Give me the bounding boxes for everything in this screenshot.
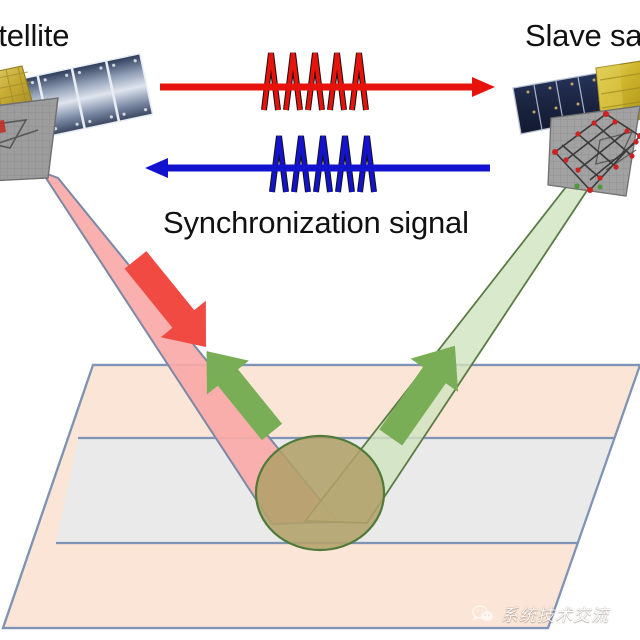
figure-canvas: satellite Slave sat Synchronization sign… [0, 0, 640, 640]
watermark-text: 系统技术交流 [501, 601, 609, 626]
slave-satellite-label: Slave sat [525, 18, 640, 54]
master-satellite-label: satellite [0, 18, 69, 54]
watermark: 系统技术交流 [472, 601, 609, 626]
wechat-icon [472, 605, 494, 623]
slave-satellite [0, 0, 640, 640]
sync-signal-caption: Synchronization signal [163, 205, 469, 241]
